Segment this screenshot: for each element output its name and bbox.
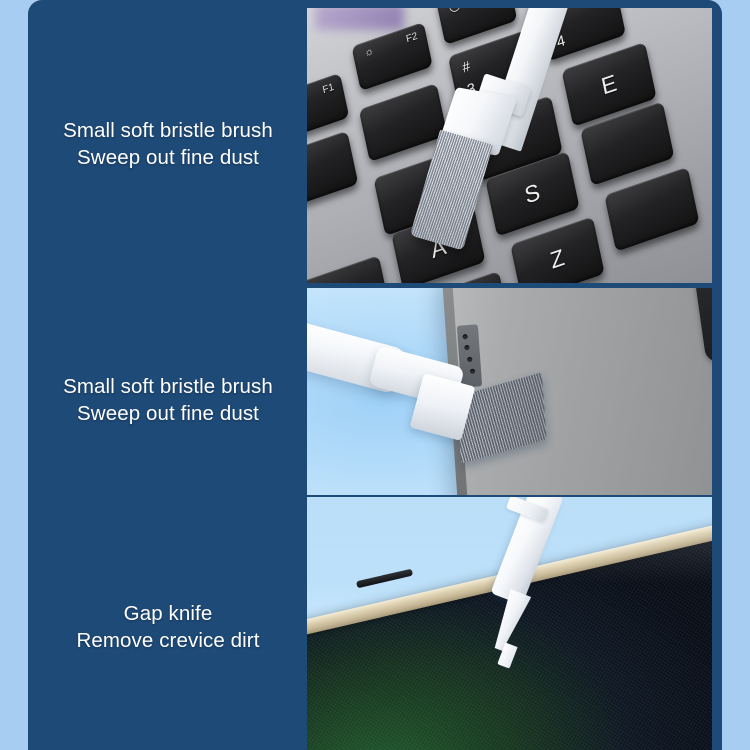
caption-line-1: Gap knife [124, 602, 213, 625]
product-infographic: Small soft bristle brush Sweep out fine … [0, 0, 750, 750]
camera-module [694, 288, 712, 363]
keyboard-photo: ☼ F1 ☼ F2 ◯ ! 1 [307, 8, 712, 283]
panel-keyboard-brush: ☼ F1 ☼ F2 ◯ ! 1 [307, 8, 712, 283]
panel-gap-knife [307, 497, 712, 750]
speaker-hole [467, 357, 472, 362]
charging-port-render [307, 288, 712, 495]
key-tab: tab [307, 255, 391, 283]
key-x [605, 166, 700, 251]
caption-brush-port: Small soft bristle brush Sweep out fine … [28, 373, 308, 427]
speaker-hole [462, 334, 467, 339]
caption-line-1: Small soft bristle brush [63, 119, 273, 142]
caption-line-2: Sweep out fine dust [28, 144, 308, 171]
caption-line-2: Sweep out fine dust [28, 400, 308, 427]
caption-line-1: Small soft bristle brush [63, 375, 273, 398]
gap-knife-render [307, 497, 712, 750]
info-card: Small soft bristle brush Sweep out fine … [28, 0, 722, 750]
brightness-icon: ☼ [364, 46, 376, 60]
mission-control-icon: ◯ [448, 8, 462, 13]
caption-brush-keyboard: Small soft bristle brush Sweep out fine … [28, 117, 308, 171]
speaker-hole [469, 369, 474, 374]
panel-port-brush [307, 288, 712, 495]
key-1: ! 1 [307, 131, 358, 211]
caption-line-2: Remove crevice dirt [28, 627, 308, 654]
caption-gap-knife: Gap knife Remove crevice dirt [28, 600, 308, 654]
key-f2: ☼ F2 [351, 22, 433, 92]
speaker-hole [464, 346, 469, 351]
